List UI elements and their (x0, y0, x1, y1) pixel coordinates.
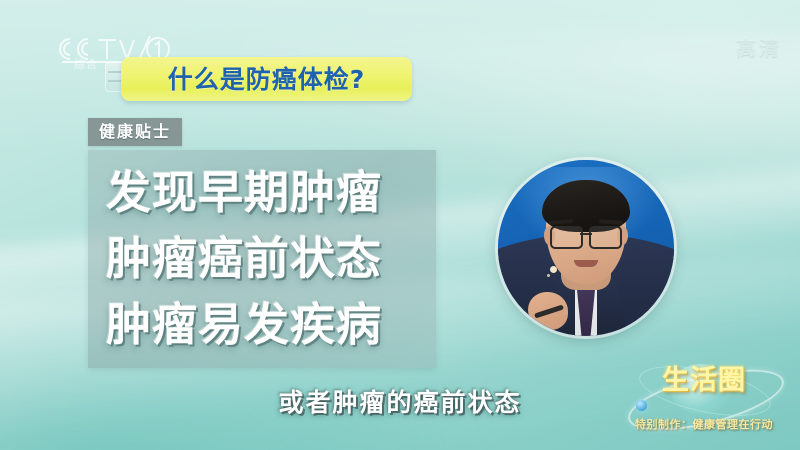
health-tip-label-text: 健康贴士 (99, 124, 171, 140)
broadcast-screenshot: 综合 高清 什么是防癌体检? 健康贴士 发现早期肿瘤 肿瘤癌前状态 肿瘤易发疾病 (0, 0, 800, 450)
health-tip-panel: 发现早期肿瘤 肿瘤癌前状态 肿瘤易发疾病 (88, 150, 436, 368)
lapel-microphone (550, 266, 557, 273)
tip-line-2: 肿瘤癌前状态 (106, 226, 426, 292)
logo-orbit-dot (636, 400, 647, 411)
channel-sub-label: 综合 (74, 56, 98, 72)
tip-line-3: 肿瘤易发疾病 (106, 292, 426, 358)
title-banner-text: 什么是防癌体检? (168, 67, 366, 92)
portrait-glasses (549, 226, 623, 246)
health-tip-label: 健康贴士 (88, 118, 182, 146)
glasses-lens-right (589, 226, 622, 249)
title-banner: 什么是防癌体检? (121, 57, 412, 101)
portrait-mouth (574, 260, 598, 267)
glasses-lens-left (550, 226, 583, 249)
show-logo: 生活圈 特别制作：健康管理在行动 (618, 360, 790, 432)
show-logo-tagline: 特别制作：健康管理在行动 (618, 416, 790, 432)
health-tip-lines: 发现早期肿瘤 肿瘤癌前状态 肿瘤易发疾病 (106, 160, 426, 358)
hd-watermark: 高清 (736, 32, 782, 61)
guest-portrait (498, 160, 674, 336)
glasses-bridge (580, 233, 592, 235)
tip-line-1: 发现早期肿瘤 (106, 160, 426, 226)
show-logo-title: 生活圈 (618, 367, 790, 394)
